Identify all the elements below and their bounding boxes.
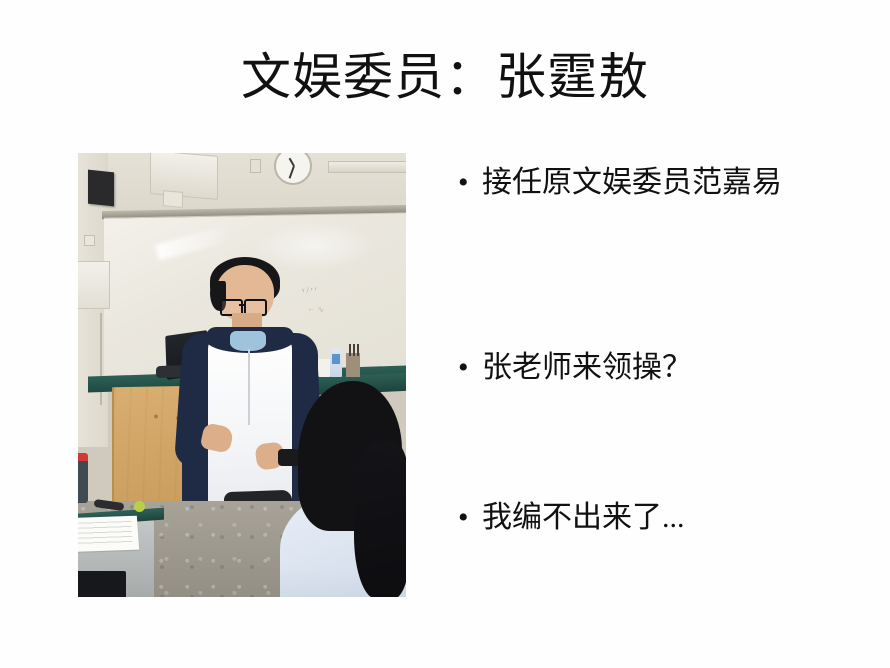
student-inner-shirt — [230, 331, 266, 351]
bullet-marker: • — [452, 348, 482, 388]
list-item: • 我编不出来了... — [452, 498, 814, 538]
list-item: • 张老师来领操？ — [452, 348, 814, 388]
paper-sheet — [78, 516, 139, 553]
slide-canvas: 文娱委员：张霆敖 ᵞ/ʳʳ ⌐ ∿ — [0, 0, 890, 668]
whiteboard-writing: ᵞ/ʳʳ — [302, 284, 319, 295]
whiteboard-glare — [155, 226, 231, 261]
foreground-student — [280, 381, 406, 597]
pen — [353, 344, 355, 356]
green-ball — [134, 501, 145, 512]
side-whiteboard — [78, 261, 110, 309]
wall-plate-icon — [84, 235, 95, 246]
wall-switch-icon — [250, 159, 261, 173]
wall-shelf — [328, 161, 406, 173]
student-zipper — [248, 349, 250, 425]
foreground-student-hair-tail — [354, 441, 406, 597]
pen — [357, 344, 359, 356]
desk-storage-box — [78, 571, 126, 597]
student-glasses-icon — [220, 299, 270, 312]
bullet-marker: • — [452, 163, 482, 203]
bullet-text: 张老师来领操？ — [482, 348, 814, 388]
water-bottle — [78, 453, 88, 503]
page-title: 文娱委员：张霆敖 — [0, 48, 890, 106]
pen-holder — [346, 353, 360, 377]
bullet-marker: • — [452, 498, 482, 538]
classroom-photo: ᵞ/ʳʳ ⌐ ∿ — [78, 153, 406, 597]
bullet-text: 我编不出来了... — [482, 498, 814, 538]
list-item: • 接任原文娱委员范嘉易 — [452, 163, 814, 203]
classroom-photo-content: ᵞ/ʳʳ ⌐ ∿ — [78, 153, 406, 597]
bullet-text: 接任原文娱委员范嘉易 — [482, 163, 814, 203]
air-conditioner-icon — [150, 153, 218, 200]
wall-speaker-icon — [88, 170, 114, 207]
spray-bottle — [330, 349, 342, 377]
paper-lines — [78, 521, 133, 547]
whiteboard-glare-2 — [254, 220, 374, 272]
whiteboard-writing-2: ⌐ ∿ — [309, 305, 326, 314]
pen — [349, 344, 351, 356]
clock-minute-hand — [289, 166, 295, 179]
